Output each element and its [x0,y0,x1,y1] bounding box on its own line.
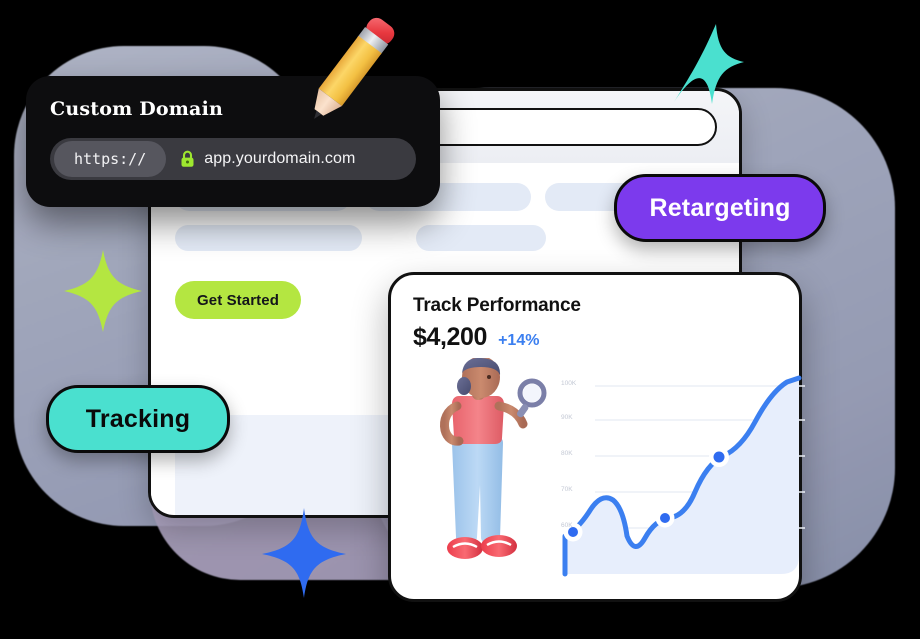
sparkle-lime-icon [64,250,142,332]
sparkle-teal-icon [674,24,744,104]
sparkle-blue-icon [258,502,350,598]
skeleton-bar [175,225,362,251]
scheme-pill[interactable]: https:// [54,141,166,177]
chart-marker[interactable] [656,509,675,528]
badge-tracking-label: Tracking [86,405,190,434]
performance-delta: +14% [498,332,539,350]
chart-marker[interactable] [709,447,729,467]
scene: urbrand/store Get Started Custom Domain … [0,0,920,639]
person-with-magnifier-icon [427,358,557,570]
badge-retargeting-label: Retargeting [649,194,790,223]
badge-retargeting[interactable]: Retargeting [614,174,826,242]
track-performance-card: Track Performance $4,200 +14% [388,272,802,602]
badge-tracking[interactable]: Tracking [46,385,230,453]
get-started-button[interactable]: Get Started [175,281,301,319]
performance-title: Track Performance [413,295,777,317]
performance-amount: $4,200 [413,323,487,352]
pencil-icon [288,8,408,138]
performance-stats: $4,200 +14% [413,323,777,352]
lock-icon [180,150,195,168]
custom-domain-value: app.yourdomain.com [204,150,355,168]
performance-chart [561,360,805,580]
chart-marker[interactable] [564,523,583,542]
custom-domain-input[interactable]: https:// app.yourdomain.com [50,138,416,180]
skeleton-bar [416,225,546,251]
performance-body: 100K 90K 80K 70K 60K [413,358,777,596]
